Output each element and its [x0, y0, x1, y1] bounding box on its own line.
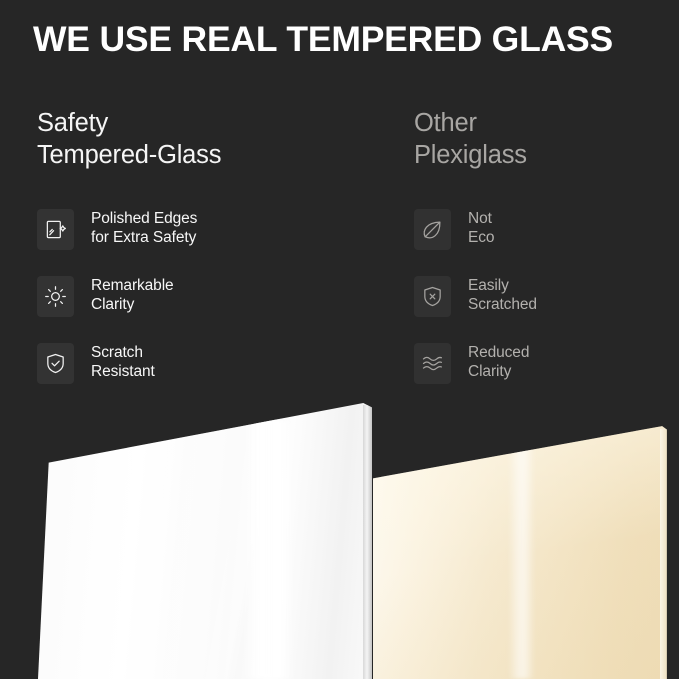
comparison-column-tempered-glass: Safety Tempered-Glass Polished Edges for… [37, 108, 382, 172]
feature-label-scratch-resistant: Scratch Resistant [91, 344, 155, 382]
feature-item-not-eco: Not Eco [414, 207, 674, 251]
leaf-crossed-out-icon [414, 209, 451, 250]
product-panel-photo [0, 398, 679, 679]
page-title: WE USE REAL TEMPERED GLASS [33, 20, 653, 60]
feature-item-reduced-clarity: Reduced Clarity [414, 341, 674, 385]
feature-item-polished-edges: Polished Edges for Extra Safety [37, 207, 382, 251]
polished-edge-sparkle-icon [37, 209, 74, 250]
glass-top-bevel [48, 401, 372, 468]
feature-label-reduced-clarity: Reduced Clarity [468, 344, 529, 382]
yellowed-plexiglass-panel [373, 398, 679, 679]
feature-item-remarkable-clarity: Remarkable Clarity [37, 274, 382, 318]
feature-label-not-eco: Not Eco [468, 210, 494, 248]
feature-label-polished-edges: Polished Edges for Extra Safety [91, 210, 197, 248]
feature-list-tempered-glass: Polished Edges for Extra Safety Remarkab… [37, 207, 382, 385]
plexiglass-reflection-band [508, 415, 536, 679]
shield-x-icon [414, 276, 451, 317]
column-heading-tempered-glass: Safety Tempered-Glass [37, 108, 382, 172]
sun-brightness-icon [37, 276, 74, 317]
feature-list-plexiglass: Not Eco Easily Scratched [414, 207, 674, 385]
comparison-column-plexiglass: Other Plexiglass Not Eco [414, 108, 674, 172]
tempered-glass-panel [38, 398, 372, 679]
feature-item-easily-scratched: Easily Scratched [414, 274, 674, 318]
feature-label-easily-scratched: Easily Scratched [468, 277, 537, 315]
infographic-root: WE USE REAL TEMPERED GLASS Safety Temper… [0, 0, 679, 679]
shield-check-icon [37, 343, 74, 384]
glass-edge-thickness [363, 405, 372, 679]
plexiglass-edge-highlight [660, 429, 667, 679]
feature-label-remarkable-clarity: Remarkable Clarity [91, 277, 174, 315]
wavy-lines-icon [414, 343, 451, 384]
feature-item-scratch-resistant: Scratch Resistant [37, 341, 382, 385]
column-heading-plexiglass: Other Plexiglass [414, 108, 674, 172]
glass-reflection-band [242, 420, 295, 679]
